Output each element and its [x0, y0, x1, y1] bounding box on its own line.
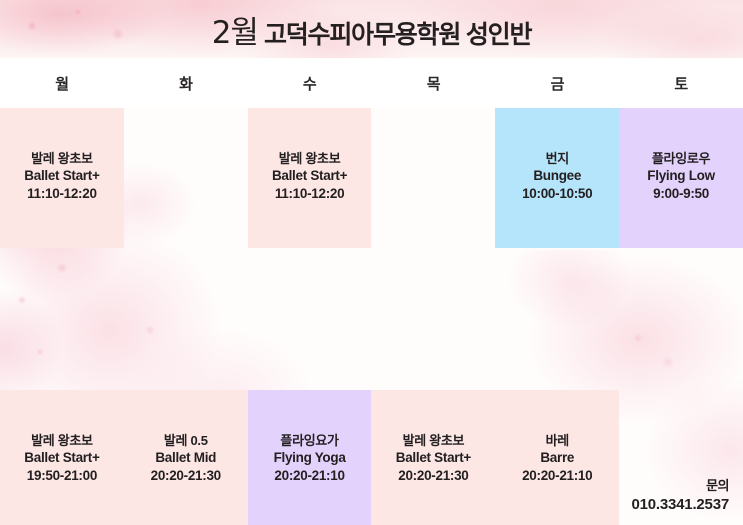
contact-info: 문의 010.3341.2537: [631, 477, 729, 515]
class-name-en: Ballet Start+: [24, 167, 99, 185]
class-name-en: Ballet Start+: [396, 449, 471, 467]
day-header-sat: 토: [619, 58, 743, 108]
class-time: 20:20-21:10: [274, 467, 346, 485]
class-cell-sat-morning[interactable]: 플라잉로우 Flying Low 9:00-9:50: [619, 108, 743, 248]
class-name-en: Ballet Start+: [24, 449, 99, 467]
day-header-mon: 월: [0, 58, 124, 108]
class-name-ko: 플라잉요가: [274, 432, 346, 449]
class-name-en: Barre: [522, 449, 592, 467]
class-name-ko: 번지: [522, 150, 592, 167]
class-name-ko: 발레 왕초보: [396, 432, 471, 449]
class-time: 19:50-21:00: [24, 467, 99, 485]
class-name-en: Flying Yoga: [274, 449, 346, 467]
class-time: 20:20-21:30: [396, 467, 471, 485]
day-header-tue: 화: [124, 58, 248, 108]
class-cell-mon-morning[interactable]: 발레 왕초보 Ballet Start+ 11:10-12:20: [0, 108, 124, 248]
class-name-en: Ballet Mid: [151, 449, 221, 467]
class-time: 9:00-9:50: [647, 185, 715, 203]
day-header-fri: 금: [495, 58, 619, 108]
title-studio: 고덕수피아무용학원 성인반: [264, 15, 531, 51]
class-name-ko: 바레: [522, 432, 592, 449]
schedule-poster: 2월 고덕수피아무용학원 성인반 월 화 수 목 금 토 발레 왕초보 Ball…: [0, 0, 743, 525]
day-header-thu: 목: [371, 58, 495, 108]
class-time: 10:00-10:50: [522, 185, 592, 203]
class-name-en: Ballet Start+: [272, 167, 347, 185]
title-month: 2월: [212, 7, 258, 52]
page-title: 2월 고덕수피아무용학원 성인반: [212, 7, 532, 52]
class-cell-tue-evening[interactable]: 발레 0.5 Ballet Mid 20:20-21:30: [124, 390, 248, 525]
schedule-grid: 발레 왕초보 Ballet Start+ 11:10-12:20 발레 왕초보 …: [0, 108, 743, 525]
class-cell-thu-evening[interactable]: 발레 왕초보 Ballet Start+ 20:20-21:30: [371, 390, 495, 525]
day-header-row: 월 화 수 목 금 토: [0, 58, 743, 108]
class-time: 20:20-21:30: [151, 467, 221, 485]
class-cell-fri-morning[interactable]: 번지 Bungee 10:00-10:50: [495, 108, 619, 248]
class-time: 11:10-12:20: [24, 185, 99, 203]
class-name-ko: 발레 왕초보: [24, 150, 99, 167]
class-name-ko: 발레 왕초보: [24, 432, 99, 449]
class-cell-wed-morning[interactable]: 발레 왕초보 Ballet Start+ 11:10-12:20: [248, 108, 372, 248]
morning-row: 발레 왕초보 Ballet Start+ 11:10-12:20 발레 왕초보 …: [0, 108, 743, 248]
class-cell-tue-morning-empty: [124, 108, 248, 248]
class-name-en: Flying Low: [647, 167, 715, 185]
class-time: 11:10-12:20: [272, 185, 347, 203]
class-cell-mon-evening[interactable]: 발레 왕초보 Ballet Start+ 19:50-21:00: [0, 390, 124, 525]
class-name-en: Bungee: [522, 167, 592, 185]
class-cell-thu-morning-empty: [371, 108, 495, 248]
class-name-ko: 발레 왕초보: [272, 150, 347, 167]
class-cell-fri-evening[interactable]: 바레 Barre 20:20-21:10: [495, 390, 619, 525]
day-header-wed: 수: [248, 58, 372, 108]
contact-phone[interactable]: 010.3341.2537: [631, 495, 729, 515]
class-name-ko: 발레 0.5: [151, 432, 221, 449]
poster-header: 2월 고덕수피아무용학원 성인반: [0, 0, 743, 58]
class-time: 20:20-21:10: [522, 467, 592, 485]
class-name-ko: 플라잉로우: [647, 150, 715, 167]
contact-label: 문의: [631, 477, 729, 495]
class-cell-wed-evening[interactable]: 플라잉요가 Flying Yoga 20:20-21:10: [248, 390, 372, 525]
